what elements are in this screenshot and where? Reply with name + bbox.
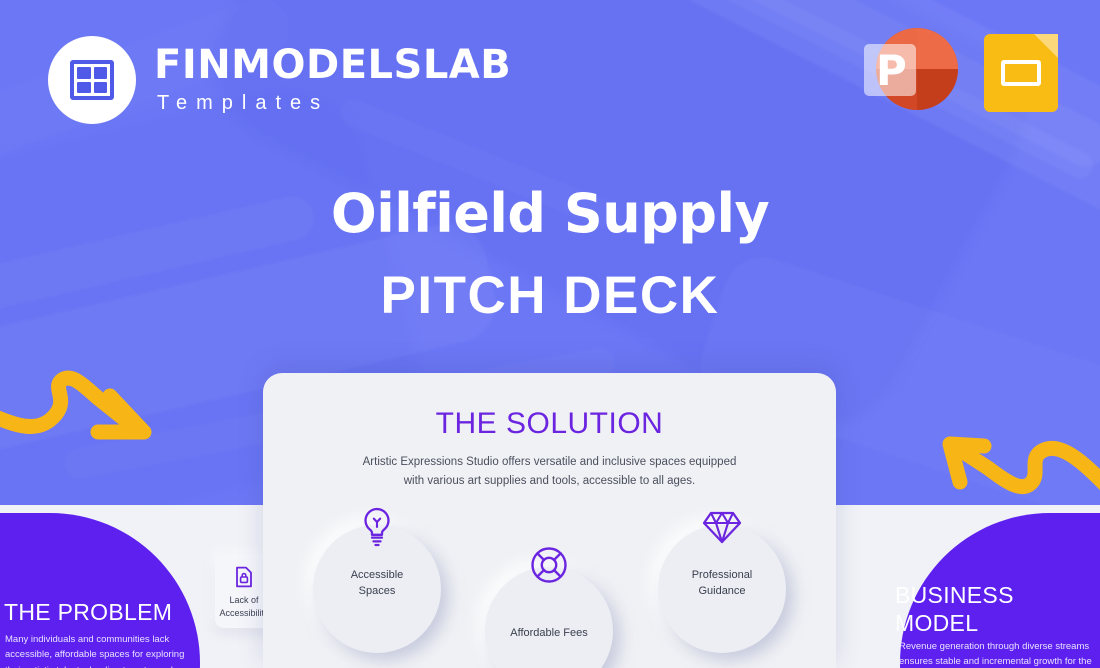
diamond-icon: [702, 509, 742, 545]
brand-logo[interactable]: FINMODELSLAB Templates: [48, 36, 511, 124]
business-body: Revenue generation through diverse strea…: [899, 639, 1100, 668]
business-title-line1: BUSINESS: [895, 582, 1014, 608]
solution-description: Artistic Expressions Studio offers versa…: [359, 453, 740, 492]
grid-square-icon: [70, 60, 114, 100]
document-lock-icon: [234, 566, 254, 588]
squiggly-arrow-right-icon: [0, 352, 178, 462]
format-icons: P: [864, 22, 1058, 116]
solution-feature-label: Accessible Spaces: [313, 568, 441, 599]
brand-tagline: Templates: [154, 92, 511, 115]
lightbulb-icon: [358, 506, 396, 548]
problem-mini-line2: Accessibility: [219, 608, 268, 618]
solution-title: THE SOLUTION: [263, 407, 836, 441]
feature3-line1: Professional: [692, 569, 753, 581]
feature3-line2: Guidance: [698, 585, 745, 597]
google-slides-icon: [984, 24, 1058, 114]
solution-feature-label: Affordable Fees: [485, 626, 613, 642]
hero-title-line2: PITCH DECK: [0, 265, 1100, 326]
feature1-line1: Accessible: [351, 569, 404, 581]
business-title-line2: MODEL: [895, 610, 978, 636]
solution-slide-card[interactable]: THE SOLUTION Artistic Expressions Studio…: [263, 373, 836, 668]
hero-title-line1: Oilfield Supply: [0, 186, 1100, 243]
powerpoint-icon: P: [864, 22, 958, 116]
feature1-line2: Spaces: [359, 585, 396, 597]
logo-badge: [48, 36, 136, 124]
brand-name: FINMODELSLAB: [154, 45, 511, 85]
business-title: BUSINESS MODEL: [895, 581, 1095, 637]
hero-title-block: Oilfield Supply PITCH DECK: [0, 186, 1100, 326]
brand-text: FINMODELSLAB Templates: [154, 45, 511, 115]
problem-body: Many individuals and communities lack ac…: [5, 632, 197, 668]
solution-feature-label: Professional Guidance: [658, 568, 786, 599]
powerpoint-letter: P: [876, 50, 907, 92]
problem-mini-line1: Lack of: [229, 595, 258, 605]
lifebuoy-icon: [529, 545, 569, 585]
problem-title: THE PROBLEM: [4, 598, 172, 626]
